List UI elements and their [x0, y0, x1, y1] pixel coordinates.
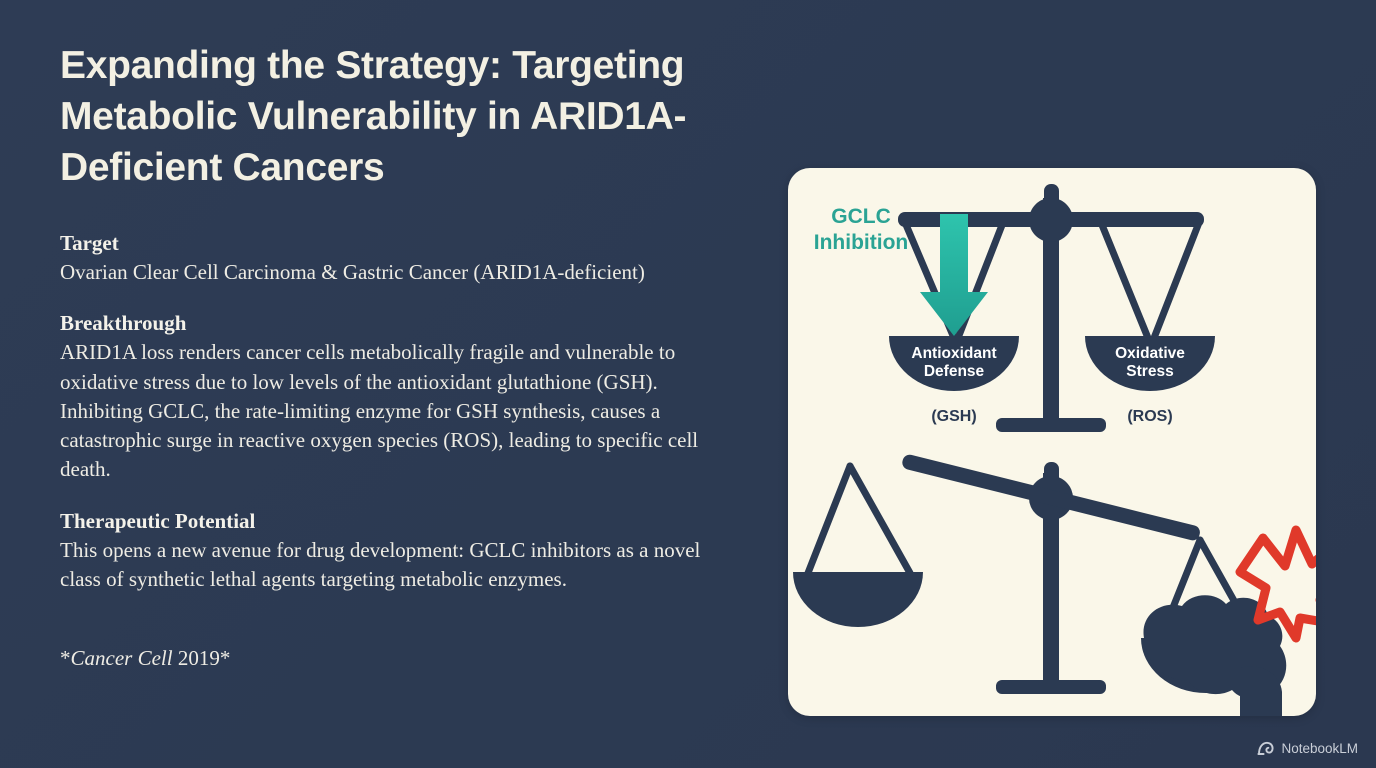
- pan-oxidative-stress: Oxidative Stress (ROS): [1085, 220, 1215, 425]
- citation-year: 2019: [173, 646, 220, 670]
- balance-scale-level: Antioxidant Defense (GSH) Oxidative Stre…: [814, 184, 1215, 432]
- notebooklm-label: NotebookLM: [1281, 741, 1358, 756]
- content-column: Expanding the Strategy: Targeting Metabo…: [60, 40, 760, 673]
- pan-string-right-b: [1154, 220, 1200, 338]
- gclc-callout-line2: Inhibition: [814, 231, 908, 254]
- section-breakthrough: Breakthrough ARID1A loss renders cancer …: [60, 309, 760, 484]
- section-therapeutic-potential: Therapeutic Potential This opens a new a…: [60, 507, 760, 595]
- citation-suffix: *: [220, 646, 231, 670]
- pan-label-antioxidant-line1: Antioxidant: [911, 345, 996, 362]
- slide-canvas: Expanding the Strategy: Targeting Metabo…: [0, 0, 1376, 768]
- pan-sublabel-ros: (ROS): [1127, 408, 1172, 425]
- gclc-callout-line1: GCLC: [831, 205, 891, 228]
- notebooklm-watermark: NotebookLM: [1257, 741, 1358, 756]
- pan-right-bottom: [1141, 540, 1286, 716]
- section-heading-breakthrough: Breakthrough: [60, 309, 760, 338]
- pan-left-bottom: [793, 466, 923, 627]
- section-heading-target: Target: [60, 229, 760, 258]
- pan-bowl-left-bottom: [793, 572, 923, 627]
- citation-journal: Cancer Cell: [71, 646, 173, 670]
- citation-prefix: *: [60, 646, 71, 670]
- notebooklm-spiral-icon: [1257, 741, 1274, 756]
- section-body-target: Ovarian Clear Cell Carcinoma & Gastric C…: [60, 258, 740, 287]
- source-citation: *Cancer Cell 2019*: [60, 616, 760, 673]
- section-target: Target Ovarian Clear Cell Carcinoma & Ga…: [60, 229, 760, 287]
- page-title: Expanding the Strategy: Targeting Metabo…: [60, 40, 740, 193]
- pan-string-bl-a: [808, 466, 850, 573]
- illustration-card: Antioxidant Defense (GSH) Oxidative Stre…: [788, 168, 1316, 716]
- balance-scale-tipped: [793, 453, 1316, 716]
- pan-label-oxidative-line1: Oxidative: [1115, 345, 1185, 362]
- section-body-therapeutic-potential: This opens a new avenue for drug develop…: [60, 536, 740, 595]
- section-heading-therapeutic-potential: Therapeutic Potential: [60, 507, 760, 536]
- section-body-breakthrough: ARID1A loss renders cancer cells metabol…: [60, 338, 740, 484]
- pan-string-right-a: [1100, 220, 1148, 338]
- pan-label-oxidative-line2: Stress: [1126, 363, 1173, 380]
- pan-label-antioxidant-line2: Defense: [924, 363, 985, 380]
- pan-string-bl-b: [850, 466, 910, 573]
- pan-sublabel-gsh: (GSH): [931, 408, 976, 425]
